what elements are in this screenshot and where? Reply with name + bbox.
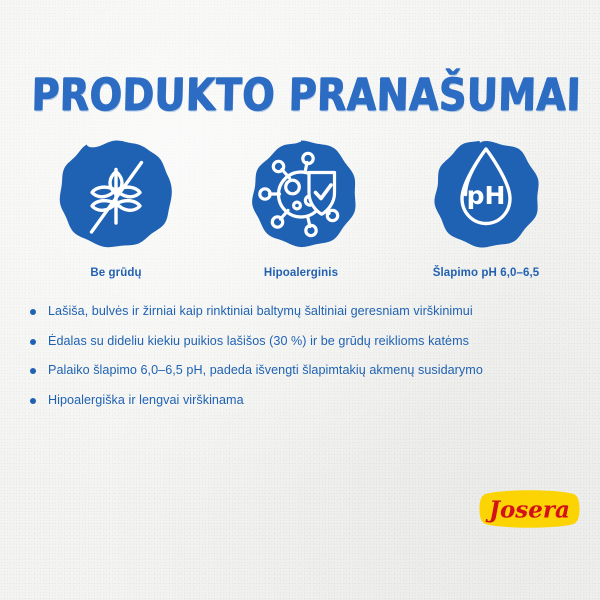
list-item-label: Lašiša, bulvės ir žirniai kaip rinktinia… [48,303,473,319]
list-item: Hipoalergiška ir lengvai virškinama [30,392,575,408]
bullet-dot-icon [30,309,36,315]
list-item-label: Hipoalergiška ir lengvai virškinama [48,392,244,408]
bullet-dot-icon [30,339,36,345]
josera-logo-text: Josera [485,497,570,524]
list-item: Palaiko šlapimo 6,0–6,5 pH, padeda išven… [30,362,575,378]
page-title: PRODUKTO PRANAŠUMAI [31,70,582,120]
benefits-list: Lašiša, bulvės ir žirniai kaip rinktinia… [30,303,575,421]
list-item: Lašiša, bulvės ir žirniai kaip rinktinia… [30,303,575,319]
feature-badge-row: Be grūdų [28,138,574,279]
list-item: Ėdalas su dideliu kiekiu puikios lašišos… [30,333,575,349]
product-benefits-poster: PRODUKTO PRANAŠUMAI [0,0,600,600]
ph-droplet-icon: pH [428,138,544,254]
josera-logo: Josera [478,487,581,531]
feature-label-urinary-ph: Šlapimo pH 6,0–6,5 [433,267,540,279]
list-item-label: Palaiko šlapimo 6,0–6,5 pH, padeda išven… [48,362,483,378]
grain-free-icon [58,138,174,254]
bullet-dot-icon [30,398,36,404]
hypoallergenic-shield-icon [243,138,359,254]
feature-grain-free: Be grūdų [28,138,204,279]
feature-label-grain-free: Be grūdų [90,267,141,279]
feature-urinary-ph: pH Šlapimo pH 6,0–6,5 [398,138,574,279]
feature-hypoallergenic: Hipoalerginis [213,138,389,279]
feature-label-hypoallergenic: Hipoalerginis [264,267,338,279]
bullet-dot-icon [30,368,36,374]
ph-icon-text: pH [467,181,506,210]
list-item-label: Ėdalas su dideliu kiekiu puikios lašišos… [48,333,469,349]
